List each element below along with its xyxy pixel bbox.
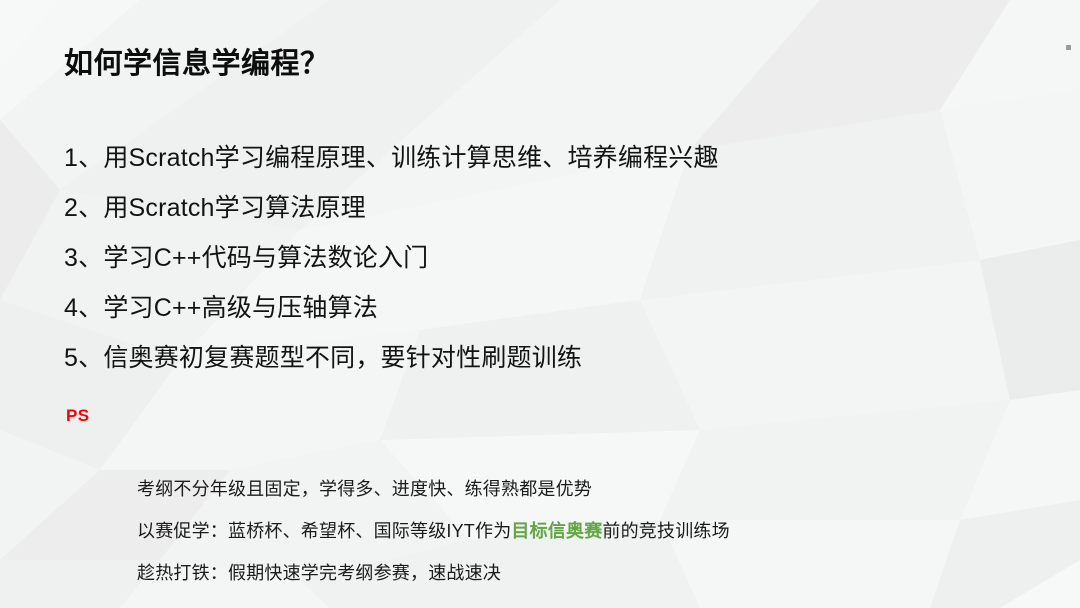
list-item-label: 学习C++高级与压轴算法 <box>103 294 378 322</box>
list-item: 4、学习C++高级与压轴算法 <box>64 283 1024 333</box>
list-item-index: 1、 <box>64 144 103 172</box>
note-item: 考纲不分年级且固定，学得多、进度快、练得熟都是优势 <box>137 474 1037 516</box>
stray-pixel-artifact <box>1066 45 1071 50</box>
list-item-index: 2、 <box>64 194 103 222</box>
list-item-index: 5、 <box>64 344 103 372</box>
list-item: 2、用Scratch学习算法原理 <box>64 183 1024 233</box>
ps-label: PS <box>66 406 89 426</box>
list-item-index: 3、 <box>64 244 103 272</box>
note-text-before: 以赛促学：蓝桥杯、希望杯、国际等级IYT作为 <box>137 521 511 541</box>
note-item: 以赛促学：蓝桥杯、希望杯、国际等级IYT作为目标信奥赛前的竞技训练场 <box>137 516 1037 558</box>
list-item: 5、信奥赛初复赛题型不同，要针对性刷题训练 <box>64 333 1024 383</box>
list-item-label: 用Scratch学习算法原理 <box>103 194 366 222</box>
page-title: 如何学信息学编程？ <box>64 40 330 82</box>
note-item: 趁热打铁：假期快速学完考纲参赛，速战速决 <box>137 558 1037 600</box>
presentation-slide: 如何学信息学编程？ 1、用Scratch学习编程原理、训练计算思维、培养编程兴趣… <box>0 0 1080 608</box>
note-text-after: 前的竞技训练场 <box>602 521 729 541</box>
list-item-label: 用Scratch学习编程原理、训练计算思维、培养编程兴趣 <box>103 144 718 172</box>
list-item: 3、学习C++代码与算法数论入门 <box>64 233 1024 283</box>
list-item-label: 信奥赛初复赛题型不同，要针对性刷题训练 <box>103 344 582 372</box>
numbered-list: 1、用Scratch学习编程原理、训练计算思维、培养编程兴趣 2、用Scratc… <box>64 133 1024 383</box>
note-text-before: 趁热打铁：假期快速学完考纲参赛，速战速决 <box>137 563 501 583</box>
note-text-highlight: 目标信奥赛 <box>511 521 602 541</box>
note-text-before: 考纲不分年级且固定，学得多、进度快、练得熟都是优势 <box>137 479 592 499</box>
list-item-index: 4、 <box>64 294 103 322</box>
notes-list: 考纲不分年级且固定，学得多、进度快、练得熟都是优势 以赛促学：蓝桥杯、希望杯、国… <box>137 474 1037 600</box>
list-item: 1、用Scratch学习编程原理、训练计算思维、培养编程兴趣 <box>64 133 1024 183</box>
list-item-label: 学习C++代码与算法数论入门 <box>103 244 428 272</box>
